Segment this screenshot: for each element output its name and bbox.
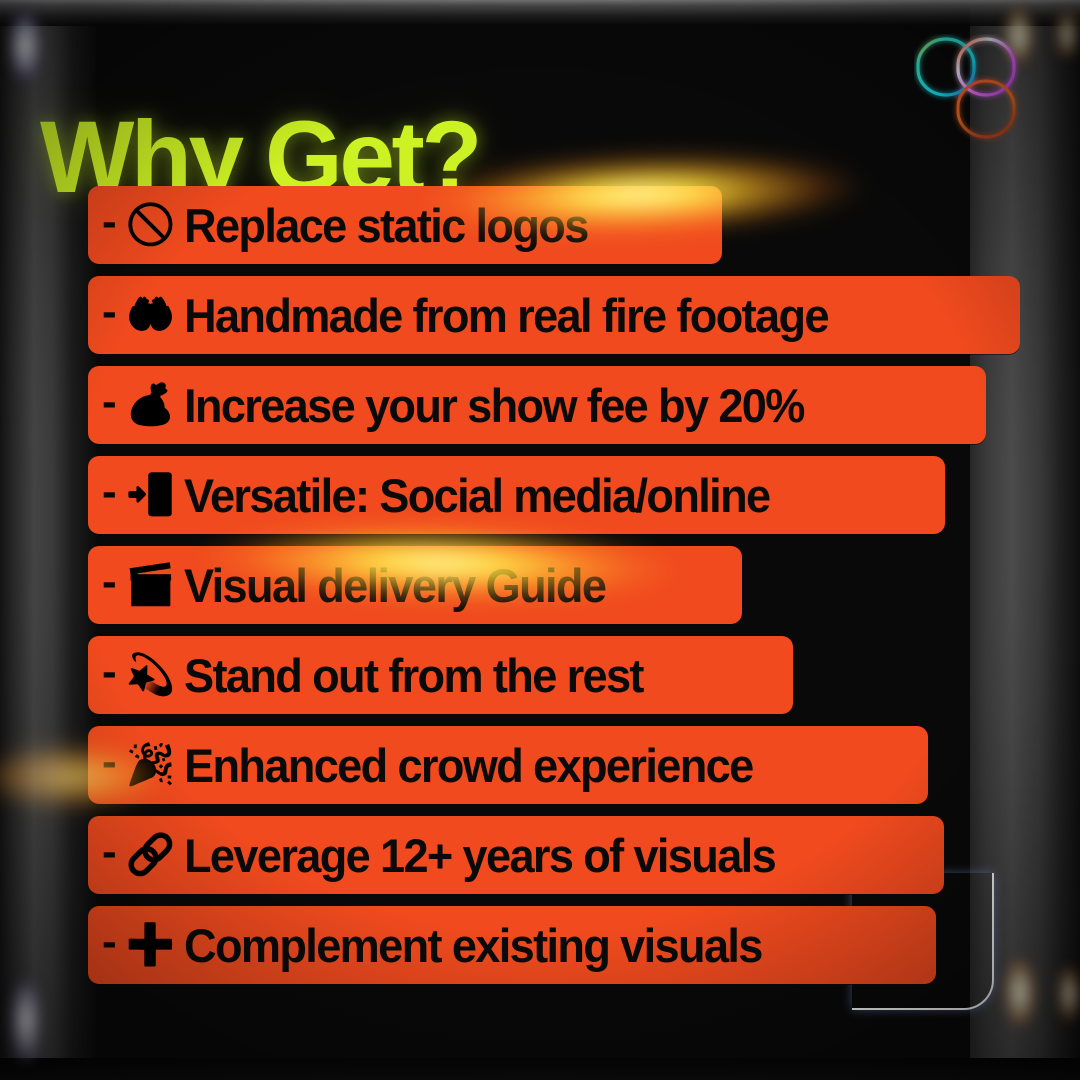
benefit-label: Enhanced crowd experience [184, 742, 753, 789]
benefit-pill[interactable]: -🎬Visual delivery Guide [88, 546, 742, 624]
open-hands-icon: 🤲 [126, 295, 172, 335]
list-item: -📲Versatile: Social media/online [88, 456, 988, 534]
mobile-arrow-icon: 📲 [126, 475, 172, 515]
link-chain-icon: 🔗 [126, 835, 172, 875]
benefit-pill[interactable]: -🎉Enhanced crowd experience [88, 726, 928, 804]
starburst-icon: 💫 [126, 655, 172, 695]
list-item: -➕Complement existing visuals [88, 906, 988, 984]
poster-canvas: Why Get? -🚫Replace static logos-🤲Handmad… [0, 0, 1080, 1080]
plus-icon: ➕ [126, 925, 172, 965]
party-popper-icon: 🎉 [126, 745, 172, 785]
benefit-label: Complement existing visuals [184, 922, 762, 969]
bullet-dash: - [102, 740, 117, 784]
bullet-dash: - [102, 290, 117, 334]
bullet-dash: - [102, 560, 117, 604]
money-bag-icon: 💰 [126, 385, 172, 425]
benefit-pill[interactable]: -💫Stand out from the rest [88, 636, 793, 714]
benefit-pill[interactable]: -🚫Replace static logos [88, 186, 722, 264]
list-item: -🎬Visual delivery Guide [88, 546, 988, 624]
benefit-pill[interactable]: -🤲Handmade from real fire footage [88, 276, 1020, 354]
bullet-dash: - [102, 470, 117, 514]
benefit-label: Handmade from real fire footage [184, 292, 828, 339]
benefit-label: Replace static logos [184, 202, 588, 249]
frame-top-edge [0, 0, 1080, 26]
benefit-label: Visual delivery Guide [184, 562, 605, 609]
list-item: -💫Stand out from the rest [88, 636, 988, 714]
benefit-label: Leverage 12+ years of visuals [184, 832, 775, 879]
list-item: -🎉Enhanced crowd experience [88, 726, 988, 804]
frame-bottom-edge [0, 1058, 1080, 1080]
benefit-pill[interactable]: -💰Increase your show fee by 20% [88, 366, 986, 444]
prohibited-icon: 🚫 [126, 205, 172, 245]
benefit-pill[interactable]: -➕Complement existing visuals [88, 906, 936, 984]
brand-logo[interactable] [914, 34, 1044, 154]
bullet-dash: - [102, 650, 117, 694]
list-item: -🔗Leverage 12+ years of visuals [88, 816, 988, 894]
clapper-board-icon: 🎬 [126, 565, 172, 605]
benefit-pill[interactable]: -🔗Leverage 12+ years of visuals [88, 816, 944, 894]
bullet-dash: - [102, 920, 117, 964]
list-item: -🤲Handmade from real fire footage [88, 276, 988, 354]
bullet-dash: - [102, 830, 117, 874]
benefit-pill[interactable]: -📲Versatile: Social media/online [88, 456, 945, 534]
benefit-label: Increase your show fee by 20% [184, 382, 804, 429]
bullet-dash: - [102, 380, 117, 424]
benefit-label: Stand out from the rest [184, 652, 643, 699]
benefits-list: -🚫Replace static logos-🤲Handmade from re… [88, 186, 988, 996]
bullet-dash: - [102, 200, 117, 244]
benefit-label: Versatile: Social media/online [184, 472, 769, 519]
list-item: -🚫Replace static logos [88, 186, 988, 264]
list-item: -💰Increase your show fee by 20% [88, 366, 988, 444]
